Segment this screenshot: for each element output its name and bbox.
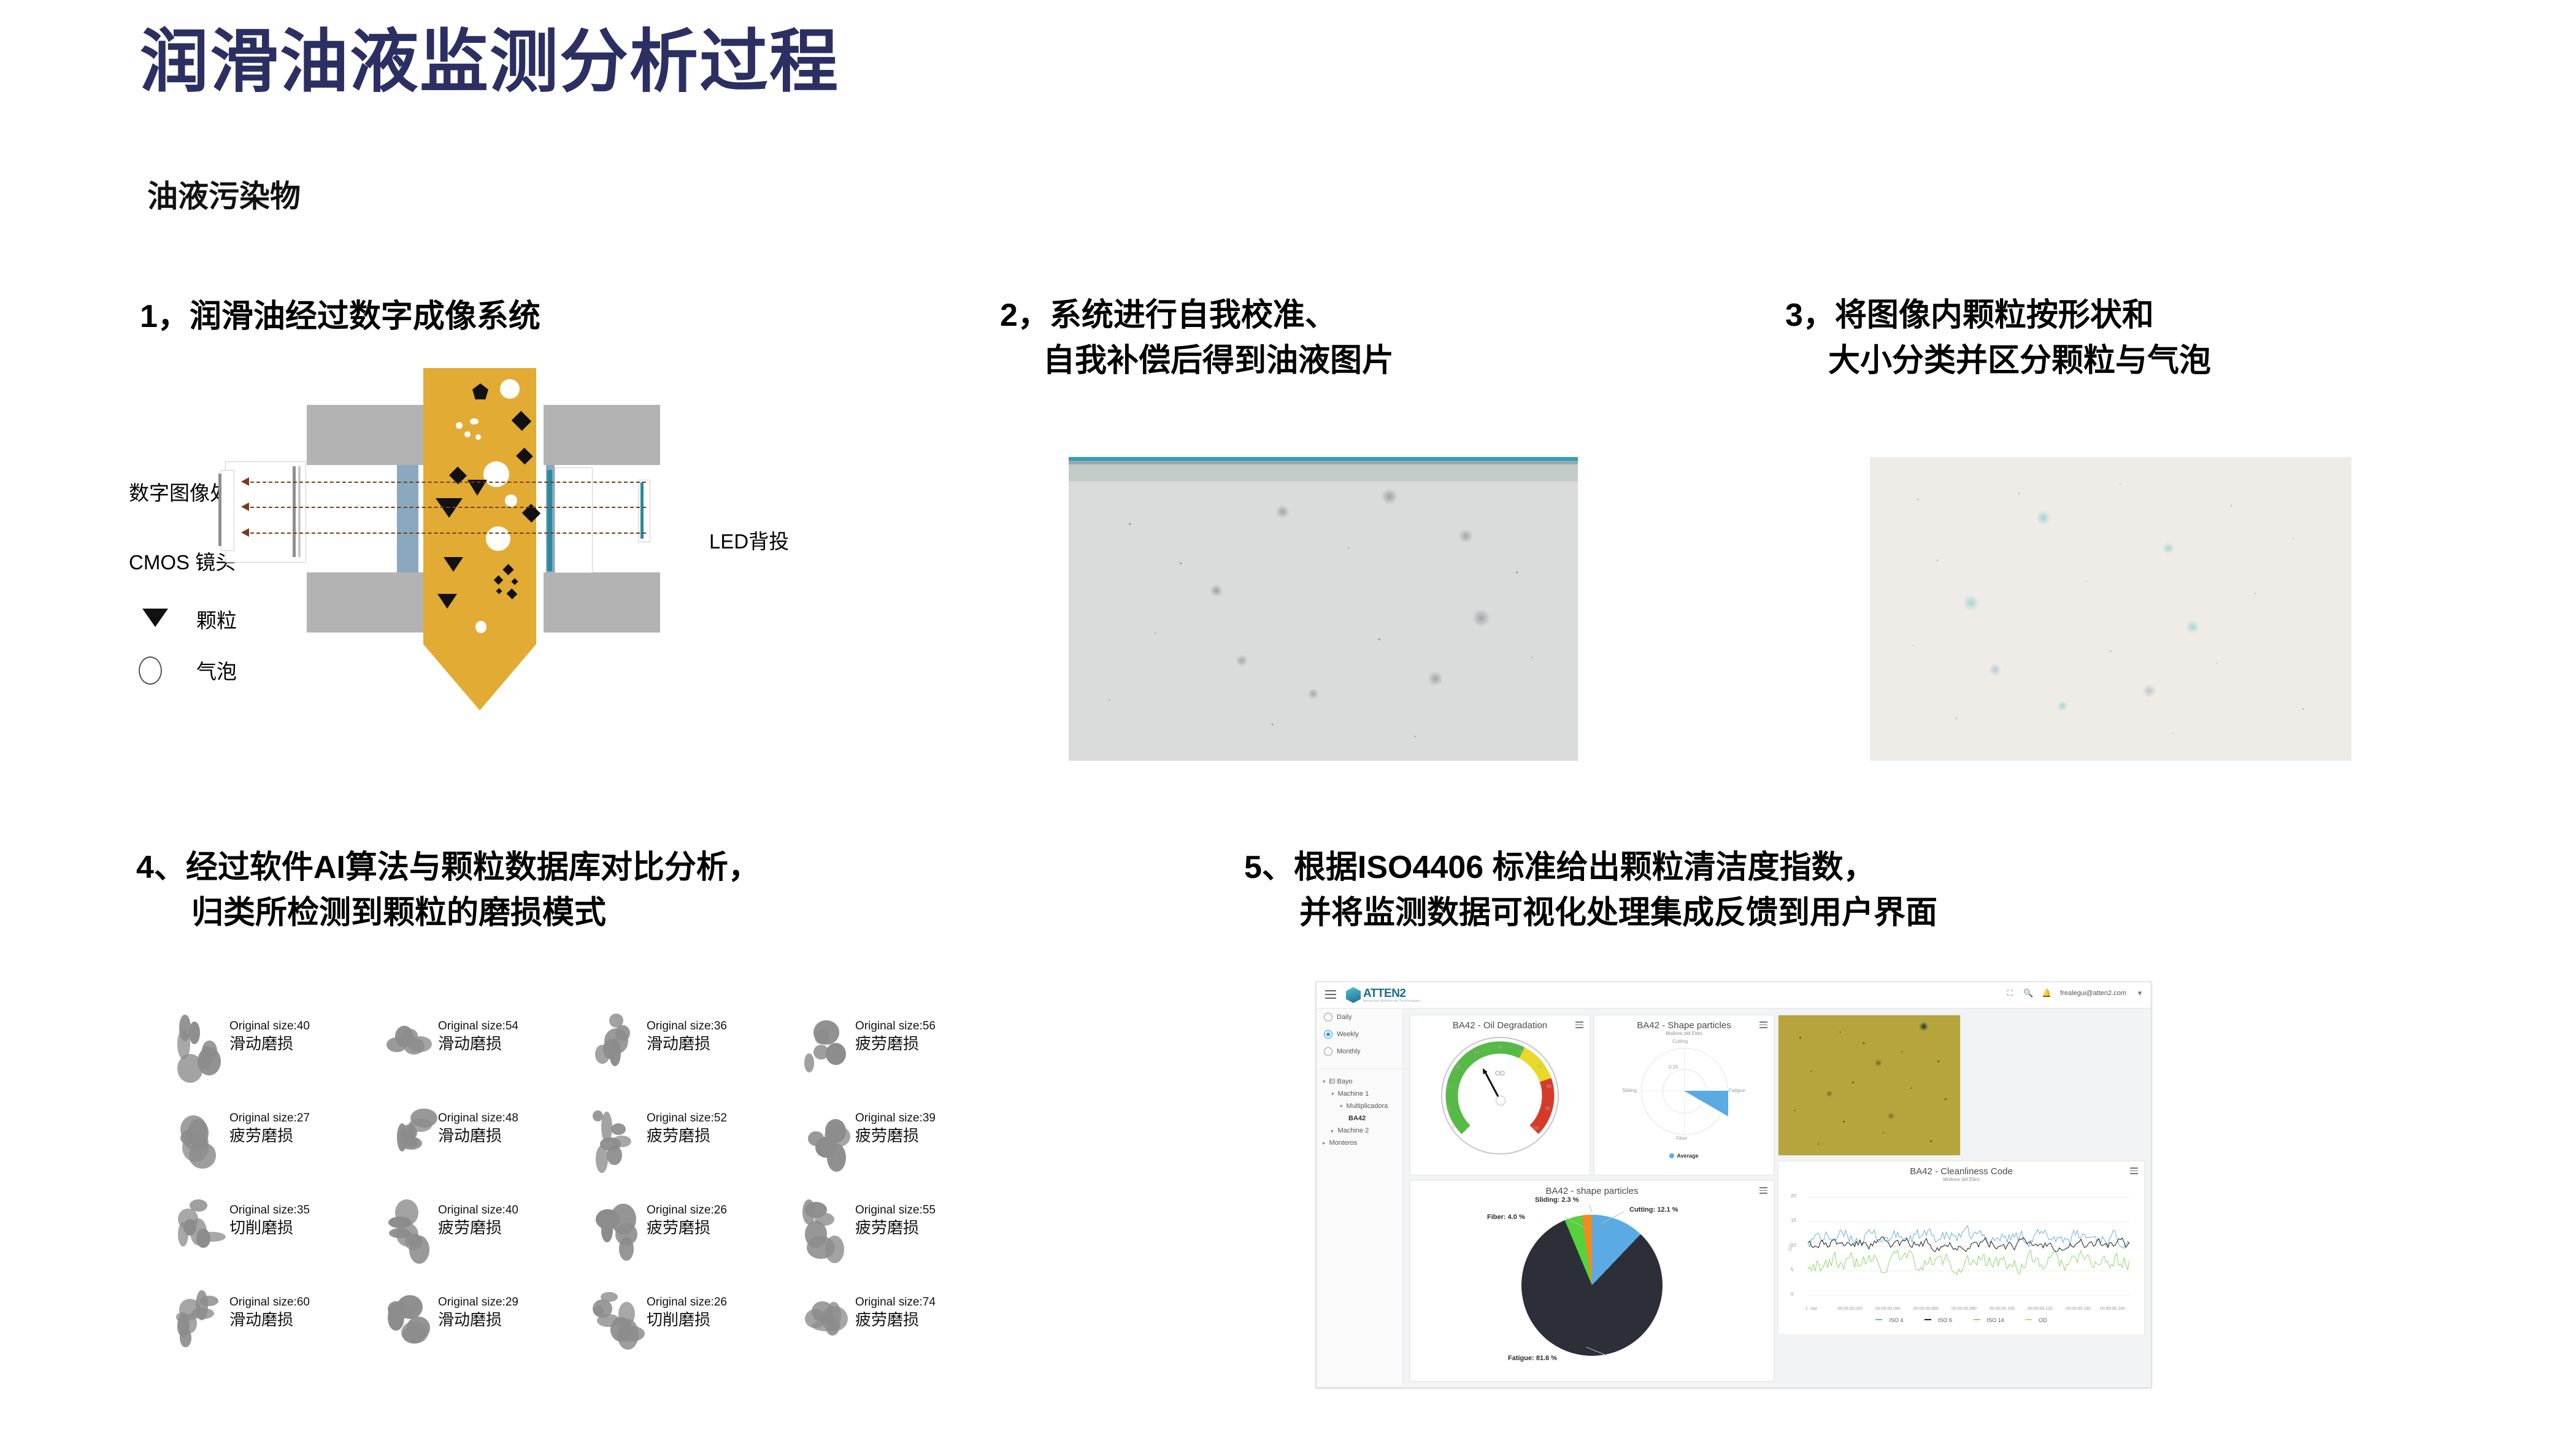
- oil-sample-photo-raw: [1069, 457, 1578, 761]
- radio-weekly[interactable]: [1324, 1030, 1332, 1039]
- light-ray: [244, 482, 646, 483]
- legend-swatch: [1974, 1319, 1980, 1320]
- line-series-svg: [1790, 1193, 2133, 1304]
- particle-size-label: Original size:52: [647, 1112, 727, 1126]
- card-title: BA42 - Shape particles: [1594, 1015, 1774, 1031]
- line-chart: ISO 20 15 10 5 0 1. Jan 00:00:00.020 00:…: [1790, 1193, 2133, 1310]
- particle-size-label: Original size:27: [229, 1112, 310, 1126]
- period-label-monthly: Monthly: [1337, 1048, 1361, 1055]
- housing-block-bottom-left: [307, 572, 423, 633]
- chevron-down-icon[interactable]: ▾: [2135, 988, 2145, 998]
- radar-scale-label: 0.25: [1669, 1064, 1678, 1070]
- microscope-particles: [1778, 1015, 1960, 1155]
- particle-item: Original size:40滑动磨损: [166, 1006, 374, 1098]
- radar-axis-label-cutting: Cutting: [1672, 1039, 1688, 1044]
- chevron-down-icon[interactable]: ▾: [1340, 1103, 1343, 1110]
- particle-size-label: Original size:55: [855, 1204, 936, 1218]
- particle-thumbnail: [795, 1195, 850, 1263]
- particle-item: Original size:54滑动磨损: [374, 1006, 583, 1098]
- card-menu-icon[interactable]: [1759, 1187, 1767, 1196]
- light-ray: [244, 507, 646, 508]
- period-label-weekly: Weekly: [1337, 1031, 1359, 1038]
- cmos-sensor-bar: [218, 474, 221, 546]
- legend-label: ISO 14: [1987, 1317, 2004, 1323]
- housing-block-top-left: [307, 405, 423, 465]
- particle-shape: [436, 498, 463, 518]
- tree-label: Machine 2: [1338, 1127, 1369, 1134]
- particle-item: Original size:52疲劳磨损: [583, 1098, 791, 1190]
- radar-axis-label-sliding: Sliding: [1622, 1088, 1637, 1093]
- particle-wear-mode-label: 切削磨损: [229, 1218, 310, 1238]
- chevron-right-icon[interactable]: ▸: [1323, 1140, 1326, 1147]
- label-led-backlight: LED背投: [709, 525, 789, 555]
- particle-size-label: Original size:39: [855, 1112, 936, 1126]
- tree-label: BA42: [1348, 1115, 1366, 1122]
- particle-item: Original size:26切削磨损: [583, 1282, 791, 1374]
- light-ray-arrow: [241, 477, 249, 486]
- card-menu-icon[interactable]: [1759, 1021, 1767, 1030]
- tree-label: Monteros: [1329, 1139, 1358, 1147]
- gauge-tick: 90: [1545, 1107, 1550, 1111]
- particle-item: Original size:48滑动磨损: [374, 1098, 583, 1190]
- period-option-monthly[interactable]: Monthly: [1317, 1043, 1402, 1060]
- bubble-shape: [475, 621, 486, 633]
- card-title: BA42 - shape particles: [1410, 1181, 1774, 1196]
- brand-tagline: Advanced Monitoring Technologies: [1363, 999, 1420, 1003]
- expand-icon[interactable]: ⛶: [2005, 988, 2015, 998]
- legend-label-bubble: 气泡: [196, 655, 237, 685]
- bell-icon[interactable]: 🔔: [2042, 988, 2051, 998]
- tree-node-el-bayo[interactable]: ▾ El Bayo: [1317, 1075, 1402, 1088]
- particle-item: Original size:26疲劳磨损: [583, 1190, 791, 1282]
- legend-swatch: [1669, 1153, 1674, 1158]
- particle-size-label: Original size:74: [855, 1296, 936, 1310]
- lens-element-b: [298, 466, 301, 557]
- legend-label-average: Average: [1677, 1153, 1698, 1159]
- legend-swatch: [1875, 1319, 1882, 1320]
- chevron-right-icon[interactable]: ▸: [1331, 1128, 1334, 1134]
- bubble-shape: [486, 526, 510, 551]
- step-3-line2: 大小分类并区分颗粒与气泡: [1785, 339, 2211, 384]
- light-ray: [244, 533, 646, 534]
- particle-shape: [444, 557, 463, 572]
- particle-wear-mode-label: 滑动磨损: [229, 1034, 310, 1054]
- tree-node-machine-2[interactable]: ▸ Machine 2: [1317, 1125, 1402, 1137]
- step-4-heading: 4、经过软件AI算法与颗粒数据库对比分析， 归类所检测到颗粒的磨损模式: [136, 845, 760, 936]
- led-emitter: [640, 482, 644, 539]
- legend-label: ISO 4: [1889, 1317, 1903, 1323]
- particle-size-label: Original size:60: [229, 1296, 310, 1310]
- chevron-down-icon[interactable]: ▾: [1323, 1079, 1326, 1085]
- housing-block-bottom-right: [544, 572, 660, 633]
- card-menu-icon[interactable]: [1575, 1021, 1583, 1030]
- particle-thumbnail: [795, 1287, 850, 1355]
- card-subtitle: Molinos del Ebro: [1778, 1177, 2144, 1182]
- step-3-heading: 3，将图像内颗粒按形状和 大小分类并区分颗粒与气泡: [1785, 293, 2211, 384]
- gauge-chart: OD 0 10 20 30 40 50 60 70 80 90 100: [1439, 1034, 1561, 1157]
- gauge-tick: 30: [1456, 1065, 1461, 1069]
- particle-wear-mode-label: 滑动磨损: [647, 1034, 727, 1054]
- particle-size-label: Original size:54: [438, 1020, 518, 1034]
- gauge-tick: 0: [1452, 1125, 1455, 1129]
- particle-wear-mode-label: 滑动磨损: [438, 1126, 518, 1146]
- page-title: 润滑油液监测分析过程: [140, 26, 839, 98]
- particle-size-label: Original size:48: [438, 1112, 518, 1126]
- line-series-iso-14: [1808, 1250, 2129, 1274]
- card-title: BA42 - Cleanliness Code: [1778, 1161, 2144, 1177]
- radio-monthly[interactable]: [1324, 1047, 1332, 1056]
- page-subtitle: 油液污染物: [147, 172, 301, 216]
- line-series-iso-4: [1808, 1226, 2129, 1248]
- radar-legend: Average: [1594, 1153, 1774, 1159]
- x-tick-label: 00:00:00.040: [1875, 1307, 1901, 1311]
- dashboard-body: Daily Weekly Monthly ▾ El Bayo ▾ Machine…: [1317, 1009, 2151, 1386]
- particle-item: Original size:39疲劳磨损: [791, 1098, 1000, 1190]
- legend-item-iso4: ISO 4: [1870, 1317, 1908, 1323]
- particle-item: Original size:56疲劳磨损: [791, 1006, 1000, 1098]
- particle-classification-grid: Original size:40滑动磨损Original size:54滑动磨损…: [166, 1006, 1000, 1374]
- pie-label-sliding: Sliding: 2.3 %: [1535, 1196, 1579, 1204]
- lens-element-a: [293, 466, 296, 557]
- particle-thumbnail: [795, 1011, 850, 1079]
- legend-label: ISO 6: [1938, 1317, 1952, 1323]
- particle-item: Original size:35切削磨损: [166, 1190, 374, 1282]
- step-2-line2: 自我补偿后得到油液图片: [1000, 339, 1394, 384]
- radar-axis-label-fiber: Fiber: [1676, 1136, 1687, 1141]
- pie-chart: Cutting: 12.1 % Fatigue: 81.6 % Fiber: 4…: [1521, 1215, 1663, 1356]
- tree-node-ba42[interactable]: BA42: [1317, 1112, 1402, 1125]
- particle-thumbnail: [378, 1287, 433, 1355]
- legend-item-iso6: ISO 6: [1920, 1317, 1957, 1323]
- particle-thumbnail: [378, 1011, 433, 1079]
- x-tick-label: 00:00:00.100: [1990, 1307, 2015, 1311]
- particle-wear-mode-label: 滑动磨损: [438, 1310, 518, 1330]
- triangle-marker-icon: [142, 609, 168, 627]
- particle-thumbnail: [169, 1195, 225, 1263]
- particle-thumbnail: [586, 1287, 642, 1355]
- particle-wear-mode-label: 疲劳磨损: [855, 1218, 936, 1238]
- particle-wear-mode-label: 滑动磨损: [438, 1034, 518, 1054]
- particle-wear-mode-label: 滑动磨损: [229, 1310, 310, 1330]
- particle-wear-mode-label: 疲劳磨损: [647, 1218, 727, 1238]
- period-option-daily[interactable]: Daily: [1317, 1009, 1402, 1026]
- bubble-shape: [500, 379, 520, 399]
- tree-label: Multiplicadora: [1347, 1102, 1388, 1110]
- particle-wear-mode-label: 疲劳磨损: [855, 1126, 936, 1146]
- step-3-line1: 3，将图像内颗粒按形状和: [1785, 298, 2154, 333]
- particle-size-label: Original size:35: [229, 1204, 310, 1218]
- particle-wear-mode-label: 切削磨损: [647, 1310, 727, 1330]
- gauge-tick: 80: [1547, 1085, 1551, 1089]
- gauge-unit-label: OD: [1439, 1070, 1561, 1077]
- tree-node-multiplicadora[interactable]: ▾ Multiplicadora: [1317, 1100, 1402, 1112]
- legend-swatch: [1924, 1319, 1931, 1320]
- legend-label-particle: 颗粒: [196, 604, 237, 634]
- bubble-shape: [483, 461, 509, 487]
- particle-item: Original size:29滑动磨损: [374, 1282, 583, 1374]
- pie-slices: [1521, 1215, 1663, 1356]
- gauge-tick: 10: [1446, 1107, 1451, 1111]
- x-tick-label: 00:00:00.120: [2028, 1307, 2053, 1311]
- x-tick-label: 00:00:00.060: [1913, 1307, 1939, 1311]
- hexagon-icon: [1346, 987, 1361, 1003]
- particle-size-label: Original size:29: [438, 1296, 518, 1310]
- menu-icon[interactable]: [1325, 990, 1336, 999]
- gauge-tick: 70: [1537, 1065, 1542, 1069]
- tree-node-machine-1[interactable]: ▾ Machine 1: [1317, 1088, 1402, 1100]
- radio-daily[interactable]: [1324, 1013, 1332, 1021]
- gauge-tick: 40: [1474, 1050, 1479, 1055]
- particle-thumbnail: [169, 1287, 225, 1355]
- card-title: BA42 - Oil Degradation: [1410, 1015, 1590, 1031]
- x-tick-label: 00:00:00.160: [2100, 1307, 2125, 1311]
- card-subtitle: Molinos del Ebro: [1594, 1031, 1774, 1036]
- user-email[interactable]: frealegui@atten2.com: [2060, 990, 2126, 997]
- gauge-hub: [1496, 1096, 1505, 1106]
- radar-axis-label-fatigue: Fatigue: [1729, 1088, 1745, 1093]
- tree-node-monteros[interactable]: ▸ Monteros: [1317, 1137, 1402, 1149]
- gauge-tick: 50: [1498, 1045, 1502, 1050]
- tree-label: El Bayo: [1329, 1078, 1353, 1085]
- particle-wear-mode-label: 疲劳磨损: [855, 1034, 936, 1054]
- ellipse-marker-icon: [139, 656, 162, 685]
- particle-thumbnail: [169, 1011, 225, 1079]
- sensor-diagram: 数字图像处理系统 CMOS 镜头 LED背投 颗粒 气泡: [129, 368, 816, 773]
- bubble-shape: [470, 418, 479, 425]
- dashboard-topbar: ATTEN2 Advanced Monitoring Technologies …: [1317, 982, 2151, 1009]
- particle-thumbnail: [586, 1011, 642, 1079]
- x-tick-label: 1. Jan: [1805, 1307, 1817, 1311]
- legend-item-iso14: ISO 14: [1969, 1317, 2009, 1323]
- pie-label-fiber: Fiber: 4.0 %: [1487, 1213, 1525, 1221]
- particle-size-label: Original size:26: [647, 1204, 727, 1218]
- card-cleanliness-code: BA42 - Cleanliness Code Molinos del Ebro…: [1778, 1161, 2145, 1335]
- particle-item: Original size:55疲劳磨损: [791, 1190, 1000, 1282]
- legend-item-od: OD: [2020, 1317, 2052, 1323]
- particle-thumbnail: [169, 1103, 225, 1171]
- card-oil-degradation: BA42 - Oil Degradation OD 0 10 20 30 40 …: [1410, 1015, 1590, 1175]
- pie-label-cutting: Cutting: 12.1 %: [1629, 1206, 1678, 1213]
- particle-thumbnail: [378, 1103, 433, 1171]
- light-ray-arrow: [241, 502, 249, 511]
- bubble-shape: [456, 422, 463, 429]
- bubble-shape: [505, 494, 517, 507]
- step-4-line1: 4、经过软件AI算法与颗粒数据库对比分析，: [136, 850, 760, 885]
- atten2-dashboard-screenshot: ATTEN2 Advanced Monitoring Technologies …: [1316, 982, 2151, 1388]
- particle-size-label: Original size:40: [229, 1020, 310, 1034]
- step-5-line1: 5、根据ISO4406 标准给出颗粒清洁度指数，: [1244, 850, 1875, 885]
- particle-size-label: Original size:40: [438, 1204, 518, 1218]
- led-panel: [547, 470, 552, 571]
- step-1-line1: 1，润滑油经过数字成像系统: [140, 299, 540, 334]
- period-label-daily: Daily: [1337, 1013, 1351, 1021]
- brand-logo: ATTEN2 Advanced Monitoring Technologies: [1346, 987, 1420, 1003]
- pie-label-fatigue: Fatigue: 81.6 %: [1508, 1355, 1557, 1362]
- particle-wear-mode-label: 疲劳磨损: [647, 1126, 727, 1146]
- step-5-heading: 5、根据ISO4406 标准给出颗粒清洁度指数， 并将监测数据可视化处理集成反馈…: [1244, 845, 1937, 936]
- step-2-line1: 2，系统进行自我校准、: [1000, 298, 1337, 333]
- gauge-tick: 100: [1532, 1126, 1539, 1131]
- legend-swatch: [2025, 1319, 2032, 1320]
- bubble-shape: [475, 434, 481, 440]
- card-microscope-image: [1778, 1015, 1961, 1156]
- particle-item: Original size:40疲劳磨损: [374, 1190, 583, 1282]
- led-housing: [555, 467, 593, 573]
- particle-item: Original size:74疲劳磨损: [791, 1282, 1000, 1374]
- particle-size-label: Original size:36: [647, 1020, 727, 1034]
- dashboard-sidebar: Daily Weekly Monthly ▾ El Bayo ▾ Machine…: [1317, 1009, 1403, 1386]
- gauge-tick: 60: [1520, 1050, 1524, 1055]
- card-shape-particles-radar: BA42 - Shape particles Molinos del Ebro …: [1594, 1015, 1774, 1175]
- particle-thumbnail: [586, 1195, 642, 1263]
- particle-thumbnail: [795, 1103, 850, 1171]
- pie-leader-line: [1589, 1205, 1593, 1213]
- tree-label: Machine 1: [1338, 1090, 1369, 1098]
- bubble-shape: [464, 431, 471, 437]
- card-menu-icon[interactable]: [2130, 1167, 2138, 1176]
- particle-item: Original size:27疲劳磨损: [166, 1098, 374, 1190]
- housing-block-top-right: [544, 405, 660, 465]
- x-tick-label: 00:00:00.020: [1837, 1307, 1863, 1311]
- particle-shape: [437, 594, 457, 609]
- radar-chart: Cutting Fatigue Fiber Sliding 0.25: [1626, 1039, 1742, 1149]
- particle-wear-mode-label: 疲劳磨损: [229, 1126, 310, 1146]
- chevron-down-icon[interactable]: ▾: [1331, 1091, 1334, 1098]
- particle-wear-mode-label: 疲劳磨损: [855, 1310, 936, 1330]
- step-4-line2: 归类所检测到颗粒的磨损模式: [136, 891, 760, 936]
- oil-sample-photo-classified: [1870, 457, 2351, 761]
- period-option-weekly[interactable]: Weekly: [1317, 1026, 1402, 1043]
- particle-size-label: Original size:56: [855, 1020, 936, 1034]
- oil-flow-arrowhead: [423, 644, 536, 710]
- light-ray-arrow: [241, 528, 249, 537]
- line-legend: ISO 4 ISO 6 ISO 14 OD: [1778, 1317, 2144, 1323]
- x-tick-label: 00:00:00.140: [2066, 1307, 2091, 1311]
- particle-item: Original size:60滑动磨损: [166, 1282, 374, 1374]
- step-2-heading: 2，系统进行自我校准、 自我补偿后得到油液图片: [1000, 293, 1394, 384]
- particle-wear-mode-label: 疲劳磨损: [438, 1218, 518, 1238]
- x-tick-label: 00:00:00.080: [1951, 1307, 1977, 1311]
- step-5-line2: 并将监测数据可视化处理集成反馈到用户界面: [1244, 891, 1937, 936]
- step-1-heading: 1，润滑油经过数字成像系统: [140, 294, 540, 340]
- brand-name: ATTEN2: [1363, 988, 1420, 999]
- legend-label: OD: [2039, 1317, 2047, 1323]
- gauge-tick: 20: [1446, 1085, 1451, 1089]
- search-icon[interactable]: 🔍: [2023, 988, 2033, 998]
- label-cmos-lens: CMOS 镜头: [129, 546, 236, 575]
- card-shape-particles-pie: BA42 - shape particles Cutting: 12.1 % F…: [1410, 1180, 1774, 1382]
- topbar-actions: ⛶ 🔍 🔔 frealegui@atten2.com ▾: [2005, 988, 2145, 998]
- particle-item: Original size:36滑动磨损: [583, 1006, 791, 1098]
- cmos-sensor: [221, 470, 234, 551]
- particle-size-label: Original size:26: [647, 1296, 727, 1310]
- particle-thumbnail: [586, 1103, 642, 1171]
- asset-tree: ▾ El Bayo ▾ Machine 1 ▾ Multiplicadora B…: [1317, 1069, 1402, 1149]
- particle-thumbnail: [378, 1195, 433, 1263]
